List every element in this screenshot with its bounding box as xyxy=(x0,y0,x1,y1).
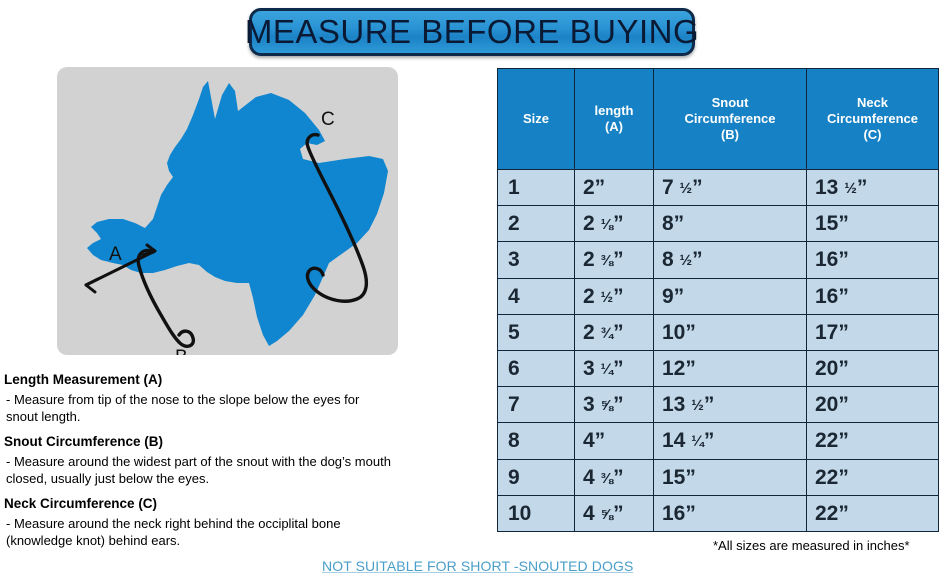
table-row: 73 ⅝”13 ½”20” xyxy=(498,387,939,423)
table-row: 52 ¾”10”17” xyxy=(498,314,939,350)
cell-snout: 16” xyxy=(654,495,807,531)
cell-length: 3 ⅝” xyxy=(575,387,654,423)
cell-size: 9 xyxy=(498,459,575,495)
table-row: 32 ⅜”8 ½”16” xyxy=(498,242,939,278)
instruction-body: - Measure around the neck right behind t… xyxy=(4,515,484,549)
cell-neck: 16” xyxy=(807,242,939,278)
table-row: 22 ⅛”8”15” xyxy=(498,206,939,242)
cell-length: 4” xyxy=(575,423,654,459)
cell-snout: 7 ½” xyxy=(654,170,807,206)
cell-size: 2 xyxy=(498,206,575,242)
cell-length: 3 ¼” xyxy=(575,350,654,386)
all-sizes-note: *All sizes are measured in inches* xyxy=(713,538,910,553)
table-row: 84”14 ¼”22” xyxy=(498,423,939,459)
cell-snout: 10” xyxy=(654,314,807,350)
table-row: 42 ½”9”16” xyxy=(498,278,939,314)
cell-snout: 9” xyxy=(654,278,807,314)
cell-neck: 16” xyxy=(807,278,939,314)
dog-silhouette xyxy=(87,81,388,346)
cell-snout: 8” xyxy=(654,206,807,242)
instruction-title: Neck Circumference (C) xyxy=(4,496,484,513)
instruction-body: - Measure around the widest part of the … xyxy=(4,453,484,487)
cell-neck: 13 ½” xyxy=(807,170,939,206)
cell-size: 1 xyxy=(498,170,575,206)
cell-snout: 14 ¼” xyxy=(654,423,807,459)
instruction-title: Snout Circumference (B) xyxy=(4,434,484,451)
cell-size: 3 xyxy=(498,242,575,278)
cell-neck: 22” xyxy=(807,459,939,495)
label-c: C xyxy=(321,109,335,130)
instruction-title: Length Measurement (A) xyxy=(4,372,484,389)
table-header-row: Size length (A) Snout Circumference (B) … xyxy=(498,69,939,170)
instruction-body: - Measure from tip of the nose to the sl… xyxy=(4,391,484,425)
cell-snout: 12” xyxy=(654,350,807,386)
table-row: 94 ⅜”15”22” xyxy=(498,459,939,495)
page-title: MEASURE BEFORE BUYING xyxy=(245,13,699,51)
label-a: A xyxy=(109,244,122,265)
cell-length: 2 ⅛” xyxy=(575,206,654,242)
table-row: 63 ¼”12”20” xyxy=(498,350,939,386)
cell-neck: 15” xyxy=(807,206,939,242)
size-chart-table: Size length (A) Snout Circumference (B) … xyxy=(497,68,939,532)
cell-snout: 8 ½” xyxy=(654,242,807,278)
cell-snout: 13 ½” xyxy=(654,387,807,423)
cell-neck: 20” xyxy=(807,350,939,386)
cell-length: 4 ⅝” xyxy=(575,495,654,531)
cell-length: 2 ½” xyxy=(575,278,654,314)
cell-neck: 22” xyxy=(807,423,939,459)
table-row: 12”7 ½”13 ½” xyxy=(498,170,939,206)
column-header-size: Size xyxy=(498,69,575,170)
cell-size: 7 xyxy=(498,387,575,423)
cell-length: 2 ¾” xyxy=(575,314,654,350)
instruction-block-length: Length Measurement (A) - Measure from ti… xyxy=(4,372,484,425)
cell-snout: 15” xyxy=(654,459,807,495)
instruction-block-neck: Neck Circumference (C) - Measure around … xyxy=(4,496,484,549)
cell-size: 5 xyxy=(498,314,575,350)
cell-size: 4 xyxy=(498,278,575,314)
title-banner: MEASURE BEFORE BUYING xyxy=(249,8,695,56)
cell-length: 4 ⅜” xyxy=(575,459,654,495)
cell-length: 2” xyxy=(575,170,654,206)
label-b: B xyxy=(175,347,188,355)
table-row: 104 ⅝”16”22” xyxy=(498,495,939,531)
table-body: 12”7 ½”13 ½”22 ⅛”8”15”32 ⅜”8 ½”16”42 ½”9… xyxy=(498,170,939,532)
cell-size: 10 xyxy=(498,495,575,531)
not-suitable-note: NOT SUITABLE FOR SHORT -SNOUTED DOGS xyxy=(322,558,633,574)
cell-size: 8 xyxy=(498,423,575,459)
cell-neck: 17” xyxy=(807,314,939,350)
size-chart-table-wrapper: Size length (A) Snout Circumference (B) … xyxy=(497,68,938,532)
column-header-neck: Neck Circumference (C) xyxy=(807,69,939,170)
cell-size: 6 xyxy=(498,350,575,386)
measurement-instructions: Length Measurement (A) - Measure from ti… xyxy=(4,372,484,559)
dog-measurement-diagram: A B C xyxy=(57,67,398,355)
table-header: Size length (A) Snout Circumference (B) … xyxy=(498,69,939,170)
column-header-snout: Snout Circumference (B) xyxy=(654,69,807,170)
dog-head-illustration: A B C xyxy=(57,67,398,355)
cell-neck: 22” xyxy=(807,495,939,531)
column-header-length: length (A) xyxy=(575,69,654,170)
cell-length: 2 ⅜” xyxy=(575,242,654,278)
instruction-block-snout: Snout Circumference (B) - Measure around… xyxy=(4,434,484,487)
cell-neck: 20” xyxy=(807,387,939,423)
